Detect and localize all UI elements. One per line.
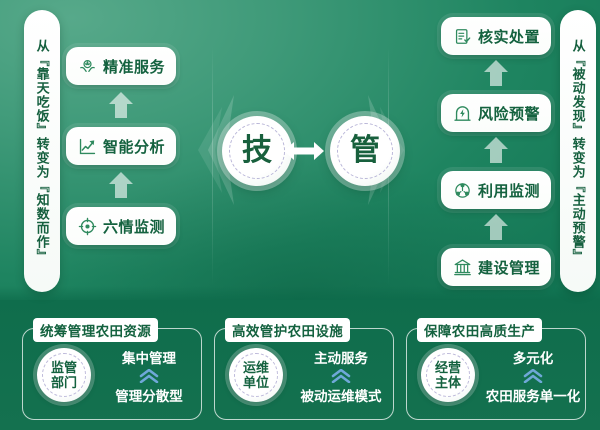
crosshair-target-icon bbox=[78, 217, 97, 236]
center-circle-manage-label: 管 bbox=[350, 136, 380, 166]
center-circle-tech: 技 bbox=[222, 116, 292, 186]
bottom-card-3: 保障农田高质生产 经营 主体 多元化 农田服务单一化 bbox=[406, 328, 586, 420]
bottom-card-3-upper: 多元化 bbox=[483, 347, 583, 367]
pill-right-1[interactable]: 核实处置 bbox=[441, 17, 551, 55]
pill-right-2-label: 风险预警 bbox=[478, 103, 540, 124]
bottom-card-1-upper: 集中管理 bbox=[99, 347, 199, 367]
pill-left-3-label: 六情监测 bbox=[103, 216, 165, 237]
bottom-card-2-lower: 被动运维模式 bbox=[291, 385, 391, 405]
up-arrow-right-1 bbox=[483, 59, 509, 87]
bottom-card-3-circle: 经营 主体 bbox=[421, 348, 475, 402]
bottom-card-2-circle-line1: 运维 bbox=[243, 360, 269, 375]
side-panel-right: 从『被动发现』转变为『主动预警』 bbox=[560, 10, 596, 292]
pill-right-3-label: 利用监测 bbox=[478, 180, 540, 201]
shield-bolt-icon bbox=[453, 104, 472, 123]
line-chart-icon bbox=[78, 137, 97, 156]
bottom-card-2: 高效管护农田设施 运维 单位 主动服务 被动运维模式 bbox=[214, 328, 394, 420]
bottom-card-1-circle-line1: 监管 bbox=[51, 360, 77, 375]
up-arrow-right-3 bbox=[483, 213, 509, 241]
chevron-up-icon bbox=[331, 369, 351, 383]
chevron-up-icon bbox=[139, 369, 159, 383]
pill-right-4-label: 建设管理 bbox=[478, 257, 540, 278]
bank-building-icon bbox=[453, 258, 472, 277]
pill-left-2[interactable]: 智能分析 bbox=[66, 127, 176, 165]
pill-left-1[interactable]: 精准服务 bbox=[66, 47, 176, 85]
bottom-card-2-upper: 主动服务 bbox=[291, 347, 391, 367]
bottom-card-1-title: 统筹管理农田资源 bbox=[33, 318, 158, 342]
node-network-icon bbox=[453, 181, 472, 200]
bottom-card-3-title: 保障农田高质生产 bbox=[417, 318, 542, 342]
clipboard-check-icon bbox=[453, 27, 472, 46]
double-arrow-icon bbox=[283, 137, 325, 165]
bottom-card-2-circle-line2: 单位 bbox=[243, 375, 269, 390]
bottom-card-3-compare: 多元化 农田服务单一化 bbox=[483, 347, 583, 405]
up-arrow-left-2 bbox=[108, 171, 134, 199]
bottom-card-1-compare: 集中管理 管理分散型 bbox=[99, 347, 199, 405]
side-panel-right-text: 从『被动发现』转变为『主动预警』 bbox=[569, 39, 586, 263]
center-circle-tech-label: 技 bbox=[242, 136, 272, 166]
side-panel-left: 从『靠天吃饭』转变为『知数而作』 bbox=[24, 10, 60, 292]
pill-right-2[interactable]: 风险预警 bbox=[441, 94, 551, 132]
up-arrow-right-2 bbox=[483, 136, 509, 164]
bottom-card-2-circle: 运维 单位 bbox=[229, 348, 283, 402]
pill-right-3[interactable]: 利用监测 bbox=[441, 171, 551, 209]
bottom-card-1: 统筹管理农田资源 监管 部门 集中管理 管理分散型 bbox=[22, 328, 202, 420]
bottom-card-1-circle: 监管 部门 bbox=[37, 348, 91, 402]
hands-plant-icon bbox=[78, 57, 97, 76]
center-circle-manage: 管 bbox=[330, 116, 400, 186]
bottom-card-1-lower: 管理分散型 bbox=[99, 385, 199, 405]
bottom-card-3-circle-line2: 主体 bbox=[435, 375, 461, 390]
pill-left-1-label: 精准服务 bbox=[103, 56, 165, 77]
pill-right-1-label: 核实处置 bbox=[478, 26, 540, 47]
pill-left-3[interactable]: 六情监测 bbox=[66, 207, 176, 245]
side-panel-left-text: 从『靠天吃饭』转变为『知数而作』 bbox=[33, 39, 50, 263]
infographic-canvas: 从『靠天吃饭』转变为『知数而作』 从『被动发现』转变为『主动预警』 精准服务 智… bbox=[0, 0, 600, 430]
pill-left-2-label: 智能分析 bbox=[103, 136, 165, 157]
up-arrow-left-1 bbox=[108, 91, 134, 119]
bottom-card-2-title: 高效管护农田设施 bbox=[225, 318, 350, 342]
chevron-up-icon bbox=[523, 369, 543, 383]
bottom-card-3-lower: 农田服务单一化 bbox=[483, 385, 583, 405]
bottom-card-3-circle-line1: 经营 bbox=[435, 360, 461, 375]
bottom-card-2-compare: 主动服务 被动运维模式 bbox=[291, 347, 391, 405]
pill-right-4[interactable]: 建设管理 bbox=[441, 248, 551, 286]
bottom-card-1-circle-line2: 部门 bbox=[51, 375, 77, 390]
